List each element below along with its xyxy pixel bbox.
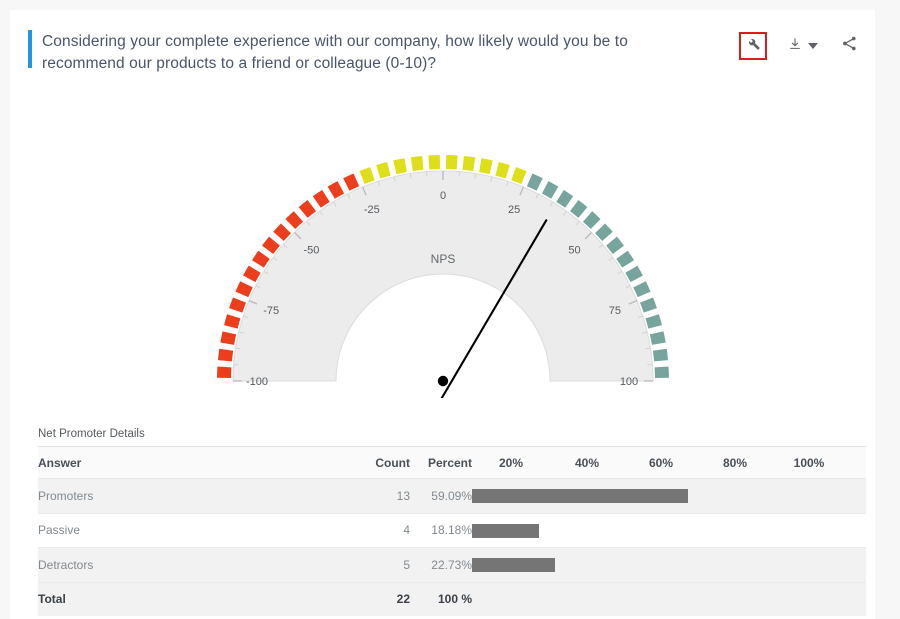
cell-percent: 18.18% xyxy=(410,513,472,548)
gauge-band-segment-0 xyxy=(312,190,329,208)
bar-fill xyxy=(472,558,555,572)
bar-fill xyxy=(472,524,539,538)
cell-count: 13 xyxy=(348,479,410,514)
bar-fill xyxy=(472,489,688,503)
page-title: Considering your complete experience wit… xyxy=(42,31,682,75)
gauge-band-segment-0 xyxy=(327,181,343,199)
nps-gauge: -100-75-50-250255075100 NPS Net Promoter… xyxy=(10,98,875,418)
gauge-tick-label--50: -50 xyxy=(303,244,319,256)
gauge-band-segment-1 xyxy=(495,162,509,178)
table-total-row: Total22100 % xyxy=(38,582,866,616)
page-root: Considering your complete experience wit… xyxy=(0,0,900,619)
table-row: Passive418.18% xyxy=(38,513,866,548)
bar-track xyxy=(472,514,866,548)
table-header: Answer Count Percent 20% 40% 60% 80% 100… xyxy=(38,447,866,479)
caret-down-icon xyxy=(808,37,818,55)
gauge-band-segment-2 xyxy=(649,331,665,345)
gauge-center-label: NPS xyxy=(430,252,455,266)
cell-total-count: 22 xyxy=(348,582,410,616)
download-icon xyxy=(788,36,802,57)
cell-total-percent: 100 % xyxy=(410,582,472,616)
axis-tick-20: 20% xyxy=(472,447,550,479)
bar-track xyxy=(472,548,866,582)
gauge-band-segment-0 xyxy=(217,349,232,362)
gauge-tick-label-75: 75 xyxy=(608,305,620,317)
gauge-band-segment-2 xyxy=(652,349,667,362)
cell-percent: 59.09% xyxy=(410,479,472,514)
axis-tick-40: 40% xyxy=(550,447,624,479)
gauge-band-segment-2 xyxy=(654,366,668,378)
settings-button[interactable] xyxy=(739,32,767,60)
axis-tick-80: 80% xyxy=(698,447,772,479)
gauge-tick-label-0: 0 xyxy=(439,190,445,202)
cell-bar xyxy=(472,548,866,583)
gauge-band-segment-0 xyxy=(220,331,236,345)
gauge-band-segment-1 xyxy=(462,156,475,171)
gauge-band-segment-1 xyxy=(445,155,457,169)
gauge-band-segment-1 xyxy=(479,158,493,174)
table-row: Promoters1359.09% xyxy=(38,479,866,514)
gauge-tick-label--75: -75 xyxy=(263,305,279,317)
gauge-face xyxy=(233,171,653,381)
axis-tick-60: 60% xyxy=(624,447,698,479)
gauge-band-segment-2 xyxy=(633,281,650,297)
gauge-band-segment-2 xyxy=(639,297,656,312)
details-table-wrap: Answer Count Percent 20% 40% 60% 80% 100… xyxy=(38,446,866,616)
gauge-tick-label--100: -100 xyxy=(245,376,267,388)
gauge-band-segment-1 xyxy=(376,162,390,178)
cell-bar xyxy=(472,479,866,514)
cell-total-answer: Total xyxy=(38,582,348,616)
share-icon xyxy=(841,35,858,57)
axis-spacer xyxy=(846,447,866,479)
gauge-band-segment-1 xyxy=(393,158,407,174)
gauge-band-segment-1 xyxy=(428,155,440,169)
table-header-row: Answer Count Percent 20% 40% 60% 80% 100… xyxy=(38,447,866,479)
cell-answer: Passive xyxy=(38,513,348,548)
column-header-count: Count xyxy=(348,447,410,479)
bar-track xyxy=(472,479,866,513)
gauge-svg: -100-75-50-250255075100 NPS xyxy=(163,98,723,398)
table-body: Promoters1359.09%Passive418.18%Detractor… xyxy=(38,479,866,616)
accent-bar xyxy=(28,30,32,68)
share-button[interactable] xyxy=(837,34,861,58)
gauge-band-segment-0 xyxy=(224,314,240,328)
cell-total-bar xyxy=(472,582,866,616)
gauge-band-segment-0 xyxy=(235,281,252,297)
cell-answer: Detractors xyxy=(38,548,348,583)
gauge-band-segment-0 xyxy=(217,366,231,378)
details-section-label: Net Promoter Details xyxy=(38,428,145,440)
axis-tick-100: 100% xyxy=(772,447,846,479)
gauge-tick-label--25: -25 xyxy=(363,204,379,216)
cell-bar xyxy=(472,513,866,548)
gauge-band-segment-2 xyxy=(541,181,557,199)
download-button[interactable] xyxy=(785,34,805,58)
gauge-band-segment-2 xyxy=(556,190,573,208)
nps-details-table: Answer Count Percent 20% 40% 60% 80% 100… xyxy=(38,446,866,616)
gauge-tick-label-100: 100 xyxy=(619,376,637,388)
column-header-percent: Percent xyxy=(410,447,472,479)
gauge-tick-label-25: 25 xyxy=(508,204,520,216)
toolbar xyxy=(739,32,861,60)
table-row: Detractors522.73% xyxy=(38,548,866,583)
cell-count: 4 xyxy=(348,513,410,548)
gauge-band-segment-1 xyxy=(410,156,423,171)
gauge-band-segment-1 xyxy=(359,167,374,184)
question-card: Considering your complete experience wit… xyxy=(10,10,875,619)
cell-percent: 22.73% xyxy=(410,548,472,583)
gauge-band-segment-0 xyxy=(251,251,269,268)
cell-count: 5 xyxy=(348,548,410,583)
wrench-icon xyxy=(746,36,761,56)
gauge-band-segment-2 xyxy=(625,266,643,282)
gauge-band-segment-1 xyxy=(511,167,526,184)
gauge-band-segment-2 xyxy=(645,314,661,328)
card-header: Considering your complete experience wit… xyxy=(10,10,875,88)
gauge-band-segment-2 xyxy=(616,251,634,268)
download-options-button[interactable] xyxy=(805,34,821,58)
cell-answer: Promoters xyxy=(38,479,348,514)
column-header-answer: Answer xyxy=(38,447,348,479)
gauge-band-segment-0 xyxy=(343,173,359,190)
gauge-tick-label-50: 50 xyxy=(568,244,580,256)
gauge-band-segment-2 xyxy=(526,173,542,190)
gauge-band-segment-0 xyxy=(243,266,261,282)
gauge-band-segment-0 xyxy=(229,297,246,312)
